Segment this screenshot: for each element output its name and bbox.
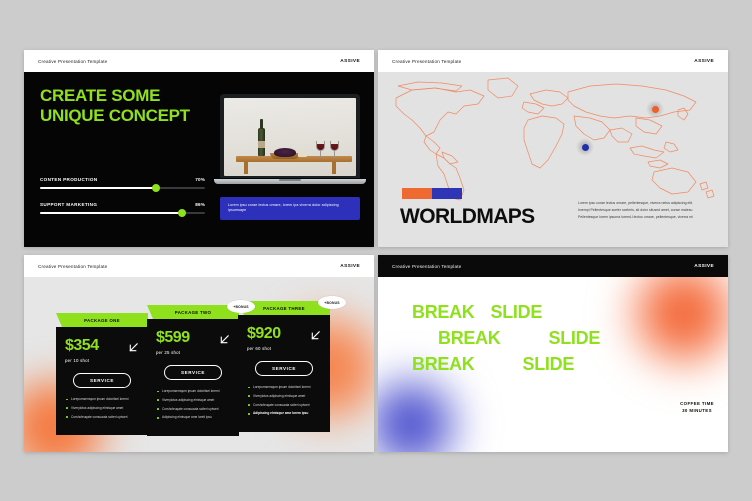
slide-1-title: CREATE SOME UNIQUE CONCEPT bbox=[40, 86, 200, 126]
swatch-orange bbox=[402, 188, 432, 199]
table-leg-right bbox=[332, 162, 336, 174]
map-marker-orange[interactable] bbox=[646, 100, 664, 118]
paragraph-line: lorempi Pellentesque sceler sceleris, si… bbox=[578, 207, 694, 214]
pricing-feature-list: Lorepumsemqum ipsum doloritsei loremi Vi… bbox=[65, 397, 139, 419]
bonus-badge: +BONUS bbox=[227, 300, 255, 313]
list-item: Corshcfeuqate consuauta sciteri upiweri bbox=[156, 407, 230, 412]
slide-header-title: Creative Presentation Template bbox=[392, 264, 461, 269]
progress-label: CONTEN PRODUCTION bbox=[40, 177, 98, 182]
list-item: Corshcfeuqate consuauta sciteri upiweri bbox=[247, 403, 321, 408]
grapes-icon bbox=[274, 148, 296, 157]
paragraph-line: Pellentesque lorem ipsuma loremLi lectus… bbox=[578, 214, 694, 221]
progress-percent: 70% bbox=[195, 177, 205, 182]
wine-bottle-icon bbox=[258, 128, 265, 156]
service-button[interactable]: SERVICE bbox=[73, 373, 131, 388]
slide-2-title: WORLDMAPS bbox=[400, 205, 535, 229]
brand-logo: ASSIVE bbox=[694, 264, 714, 269]
bonus-badge-label: +BONUS bbox=[324, 301, 339, 305]
world-map-outline bbox=[378, 72, 728, 202]
pricing-card-tab-label: PACKAGE TWO bbox=[175, 310, 211, 315]
progress-bars: CONTEN PRODUCTION 70% SUPPORT MARKETING … bbox=[40, 177, 205, 227]
slide-2-body: WORLDMAPS Lorem ipsu corae lectus ornare… bbox=[378, 72, 728, 247]
gradient-blob-blue bbox=[378, 369, 466, 452]
slide-header: Creative Presentation Template ASSIVE bbox=[24, 255, 374, 277]
swatch-blue bbox=[432, 188, 462, 199]
wine-photo bbox=[224, 98, 356, 176]
service-button-label: SERVICE bbox=[181, 370, 205, 375]
list-item: Viverylotus adipiscing elmisque amet bbox=[65, 406, 139, 411]
pricing-card-tab-label: PACKAGE THREE bbox=[263, 306, 305, 311]
progress-knob[interactable] bbox=[178, 209, 186, 217]
list-item: Lorepumsemqum ipsum doloritsei loremi bbox=[156, 389, 230, 394]
pricing-card-subtitle: per 60 shot bbox=[247, 346, 321, 351]
list-item: Lorepumsemqum ipsum doloritsei loremi bbox=[247, 385, 321, 390]
slide-header: Creative Presentation Template ASSIVE bbox=[378, 50, 728, 72]
coffee-break-note: COFFEE TIME 30 MINUTES bbox=[680, 401, 714, 415]
break-word-right: SLIDE bbox=[491, 299, 543, 325]
presentation-preview-grid: Creative Presentation Template ASSIVE CR… bbox=[0, 0, 752, 501]
cheese-icon bbox=[298, 151, 307, 157]
list-item: Lorepumsemqum ipsum doloritsei loremi bbox=[65, 397, 139, 402]
laptop-notch bbox=[279, 179, 301, 180]
pricing-feature-list: Lorepumsemqum ipsum doloritsei loremi Vi… bbox=[156, 389, 230, 420]
break-word-left: BREAK bbox=[438, 325, 501, 351]
laptop-mockup-image bbox=[220, 94, 360, 184]
wine-glass-icon bbox=[330, 141, 339, 157]
laptop-base bbox=[214, 179, 366, 184]
break-row: BREAK SLIDE bbox=[378, 351, 728, 377]
laptop-screen bbox=[220, 94, 360, 178]
service-button[interactable]: SERVICE bbox=[255, 361, 313, 376]
table-leg-left bbox=[244, 162, 248, 174]
arrow-down-left-icon bbox=[310, 328, 321, 339]
slide-worldmaps[interactable]: Creative Presentation Template ASSIVE bbox=[378, 50, 728, 247]
slide-header: Creative Presentation Template ASSIVE bbox=[378, 255, 728, 277]
pricing-card-subtitle: per 25 shot bbox=[156, 350, 230, 355]
progress-track[interactable] bbox=[40, 187, 205, 189]
pricing-card-tab-label: PACKAGE ONE bbox=[84, 318, 120, 323]
progress-support-marketing: SUPPORT MARKETING 86% bbox=[40, 202, 205, 214]
service-button[interactable]: SERVICE bbox=[164, 365, 222, 380]
slide-4-body: BREAK SLIDE BREAK SLIDE BREAK SLIDE COFF… bbox=[378, 277, 728, 452]
progress-track[interactable] bbox=[40, 212, 205, 214]
progress-conten-production: CONTEN PRODUCTION 70% bbox=[40, 177, 205, 189]
pricing-card-package-one[interactable]: PACKAGE ONE $354 per 10 shot SERVICE Lor… bbox=[56, 313, 148, 435]
bonus-badge: +BONUS bbox=[318, 296, 346, 309]
arrow-down-left-icon bbox=[219, 332, 230, 343]
progress-fill bbox=[40, 212, 182, 214]
slide-2-paragraph: Lorem ipsu corae lectus ornare, pellente… bbox=[578, 200, 694, 221]
brand-logo: ASSIVE bbox=[694, 59, 714, 64]
coffee-break-line-1: COFFEE TIME bbox=[680, 401, 714, 408]
pricing-card-body: $920 per 60 shot SERVICE Lorepumsemqum i… bbox=[238, 315, 330, 432]
slide-pricing-packages[interactable]: Creative Presentation Template ASSIVE PA… bbox=[24, 255, 374, 452]
pricing-feature-list: Lorepumsemqum ipsum doloritsei loremi Vi… bbox=[247, 385, 321, 416]
cta-banner-text: Lorem ipsu corae lectus ornare, lorem ip… bbox=[228, 203, 352, 214]
pricing-card-body: $354 per 10 shot SERVICE Lorepumsemqum i… bbox=[56, 327, 148, 435]
pricing-card-body: $599 per 25 shot SERVICE Lorepumsemqum i… bbox=[147, 319, 239, 436]
break-row: BREAK SLIDE bbox=[378, 325, 728, 351]
break-word-left: BREAK bbox=[412, 299, 475, 325]
brand-logo: ASSIVE bbox=[340, 59, 360, 64]
pricing-card-tab: PACKAGE TWO bbox=[147, 305, 239, 319]
break-word-right: SLIDE bbox=[549, 325, 601, 351]
pricing-card-subtitle: per 10 shot bbox=[65, 358, 139, 363]
list-item: Corshcfeuqate consuauta sciteri upiweri bbox=[65, 415, 139, 420]
slide-header-title: Creative Presentation Template bbox=[38, 59, 107, 64]
wine-glass-icon bbox=[316, 141, 325, 157]
cta-banner[interactable]: Lorem ipsu corae lectus ornare, lorem ip… bbox=[220, 197, 360, 220]
list-item: Viverylotus adipiscing elmisque amet bbox=[156, 398, 230, 403]
slide-header: Creative Presentation Template ASSIVE bbox=[24, 50, 374, 72]
break-word-right: SLIDE bbox=[523, 351, 575, 377]
slide-1-title-line-1: CREATE SOME bbox=[40, 86, 200, 106]
slide-3-body: PACKAGE ONE $354 per 10 shot SERVICE Lor… bbox=[24, 277, 374, 452]
service-button-label: SERVICE bbox=[272, 366, 296, 371]
progress-knob[interactable] bbox=[152, 184, 160, 192]
slide-1-title-line-2: UNIQUE CONCEPT bbox=[40, 106, 200, 126]
progress-percent: 86% bbox=[195, 202, 205, 207]
brand-logo: ASSIVE bbox=[340, 264, 360, 269]
arrow-down-left-icon bbox=[128, 340, 139, 351]
pricing-card-package-three[interactable]: +BONUS PACKAGE THREE $920 per 60 shot SE… bbox=[238, 301, 330, 432]
coffee-break-line-2: 30 MINUTES bbox=[680, 408, 714, 415]
list-item: Adipiscing elmisque ame lorem ipsu bbox=[247, 411, 321, 416]
slide-break[interactable]: Creative Presentation Template ASSIVE BR… bbox=[378, 255, 728, 452]
list-item: Viverylotus adipiscing elmisque amet bbox=[247, 394, 321, 399]
progress-fill bbox=[40, 187, 156, 189]
list-item: Adipiscing elmisque ame loreti ipsu bbox=[156, 415, 230, 420]
break-text-block: BREAK SLIDE BREAK SLIDE BREAK SLIDE bbox=[378, 299, 728, 377]
slide-header-title: Creative Presentation Template bbox=[392, 59, 461, 64]
color-swatches bbox=[402, 188, 462, 199]
pricing-card-tab: PACKAGE ONE bbox=[56, 313, 148, 327]
slide-header-title: Creative Presentation Template bbox=[38, 264, 107, 269]
slide-create-unique-concept[interactable]: Creative Presentation Template ASSIVE CR… bbox=[24, 50, 374, 247]
pricing-card-package-two[interactable]: +BONUS PACKAGE TWO $599 per 25 shot SERV… bbox=[147, 305, 239, 436]
break-word-left: BREAK bbox=[412, 351, 475, 377]
service-button-label: SERVICE bbox=[90, 378, 114, 383]
paragraph-line: Lorem ipsu corae lectus ornare, pellente… bbox=[578, 200, 694, 207]
map-marker-blue[interactable] bbox=[576, 138, 594, 156]
break-row: BREAK SLIDE bbox=[378, 299, 728, 325]
slide-1-body: CREATE SOME UNIQUE CONCEPT CONTEN PRODUC… bbox=[24, 72, 374, 247]
progress-label: SUPPORT MARKETING bbox=[40, 202, 97, 207]
bonus-badge-label: +BONUS bbox=[233, 305, 248, 309]
